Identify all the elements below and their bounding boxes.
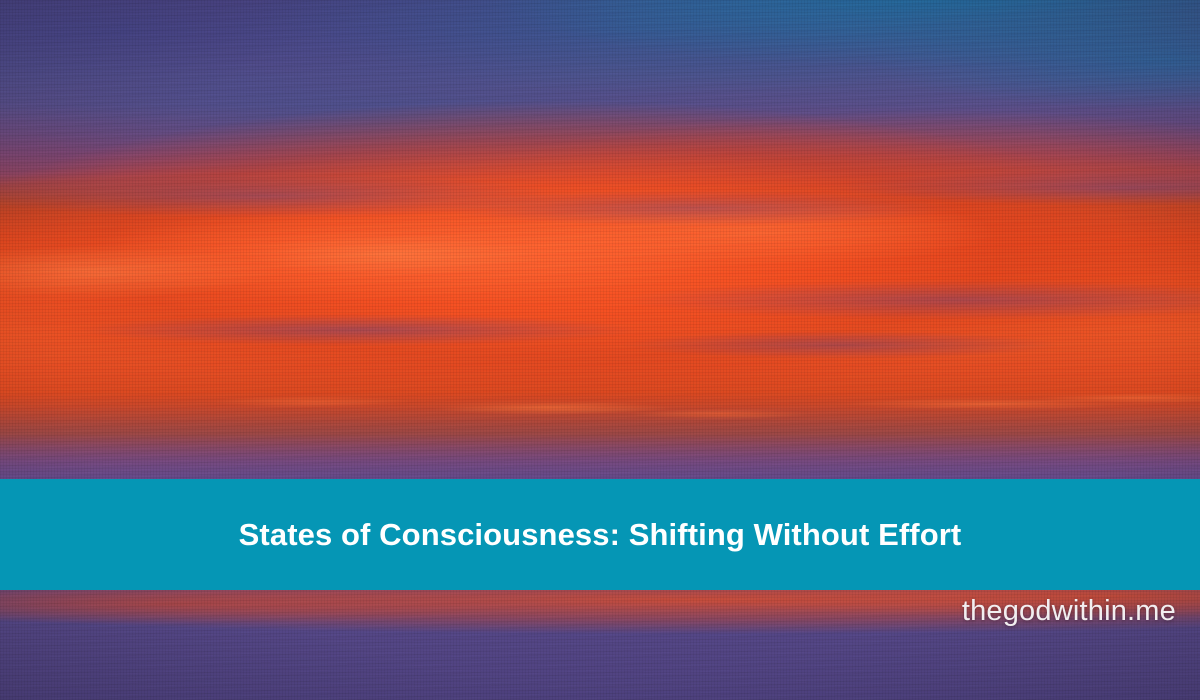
title-band: States of Consciousness: Shifting Withou…: [0, 479, 1200, 590]
featured-image-banner: States of Consciousness: Shifting Withou…: [0, 0, 1200, 700]
page-title: States of Consciousness: Shifting Withou…: [0, 516, 1200, 553]
site-watermark: thegodwithin.me: [962, 597, 1176, 626]
